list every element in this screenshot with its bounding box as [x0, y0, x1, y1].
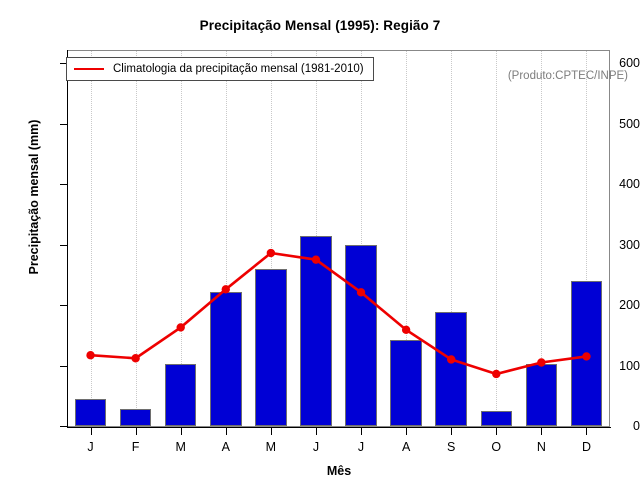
climatology-point-j-6 [357, 288, 365, 296]
climatology-point-s-8 [447, 355, 455, 363]
legend-line-swatch [74, 68, 104, 70]
climatology-point-j-0 [86, 351, 94, 359]
plot-area [67, 50, 610, 427]
climatology-point-n-10 [537, 358, 545, 366]
x-tick [316, 428, 317, 435]
y-tick [60, 366, 67, 367]
y-axis-title: Precipitação mensal (mm) [27, 67, 41, 327]
legend-item-label: Climatologia da precipitação mensal (198… [113, 63, 364, 75]
climatology-point-o-9 [492, 370, 500, 378]
climatology-point-m-2 [177, 323, 185, 331]
x-tick-label-7: A [386, 440, 426, 454]
y-tick [60, 124, 67, 125]
x-tick-label-11: D [566, 440, 606, 454]
producer-watermark: (Produto:CPTEC/INPE) [508, 70, 628, 82]
x-tick-label-2: M [161, 440, 201, 454]
x-tick [226, 428, 227, 435]
climatology-point-j-5 [312, 255, 320, 263]
climatology-point-f-1 [131, 354, 139, 362]
chart-title: Precipitação Mensal (1995): Região 7 [0, 18, 640, 33]
x-tick [271, 428, 272, 435]
x-tick [361, 428, 362, 435]
x-tick-label-10: N [521, 440, 561, 454]
x-tick-label-3: A [206, 440, 246, 454]
x-tick [136, 428, 137, 435]
precipitation-chart: Precipitação Mensal (1995): Região 7 010… [0, 0, 640, 500]
x-tick [91, 428, 92, 435]
climatology-line [91, 253, 587, 374]
x-tick-label-6: J [341, 440, 381, 454]
climatology-point-d-11 [582, 352, 590, 360]
x-tick [181, 428, 182, 435]
y-tick [60, 184, 67, 185]
y-tick [60, 426, 67, 427]
climatology-point-m-4 [267, 249, 275, 257]
plot-inner [68, 51, 609, 426]
x-tick-label-5: J [296, 440, 336, 454]
y-tick [60, 245, 67, 246]
chart-legend: Climatologia da precipitação mensal (198… [66, 57, 374, 81]
climatology-line-series [68, 51, 609, 426]
x-tick [496, 428, 497, 435]
x-tick-label-9: O [476, 440, 516, 454]
x-tick-label-1: F [116, 440, 156, 454]
x-tick [541, 428, 542, 435]
x-tick [451, 428, 452, 435]
y-tick [60, 305, 67, 306]
x-tick [586, 428, 587, 435]
x-tick-label-4: M [251, 440, 291, 454]
x-tick-label-0: J [71, 440, 111, 454]
climatology-point-a-3 [222, 285, 230, 293]
x-tick [406, 428, 407, 435]
climatology-point-a-7 [402, 326, 410, 334]
x-tick-label-8: S [431, 440, 471, 454]
x-axis-title: Mês [67, 464, 611, 478]
x-axis-line [67, 427, 611, 428]
